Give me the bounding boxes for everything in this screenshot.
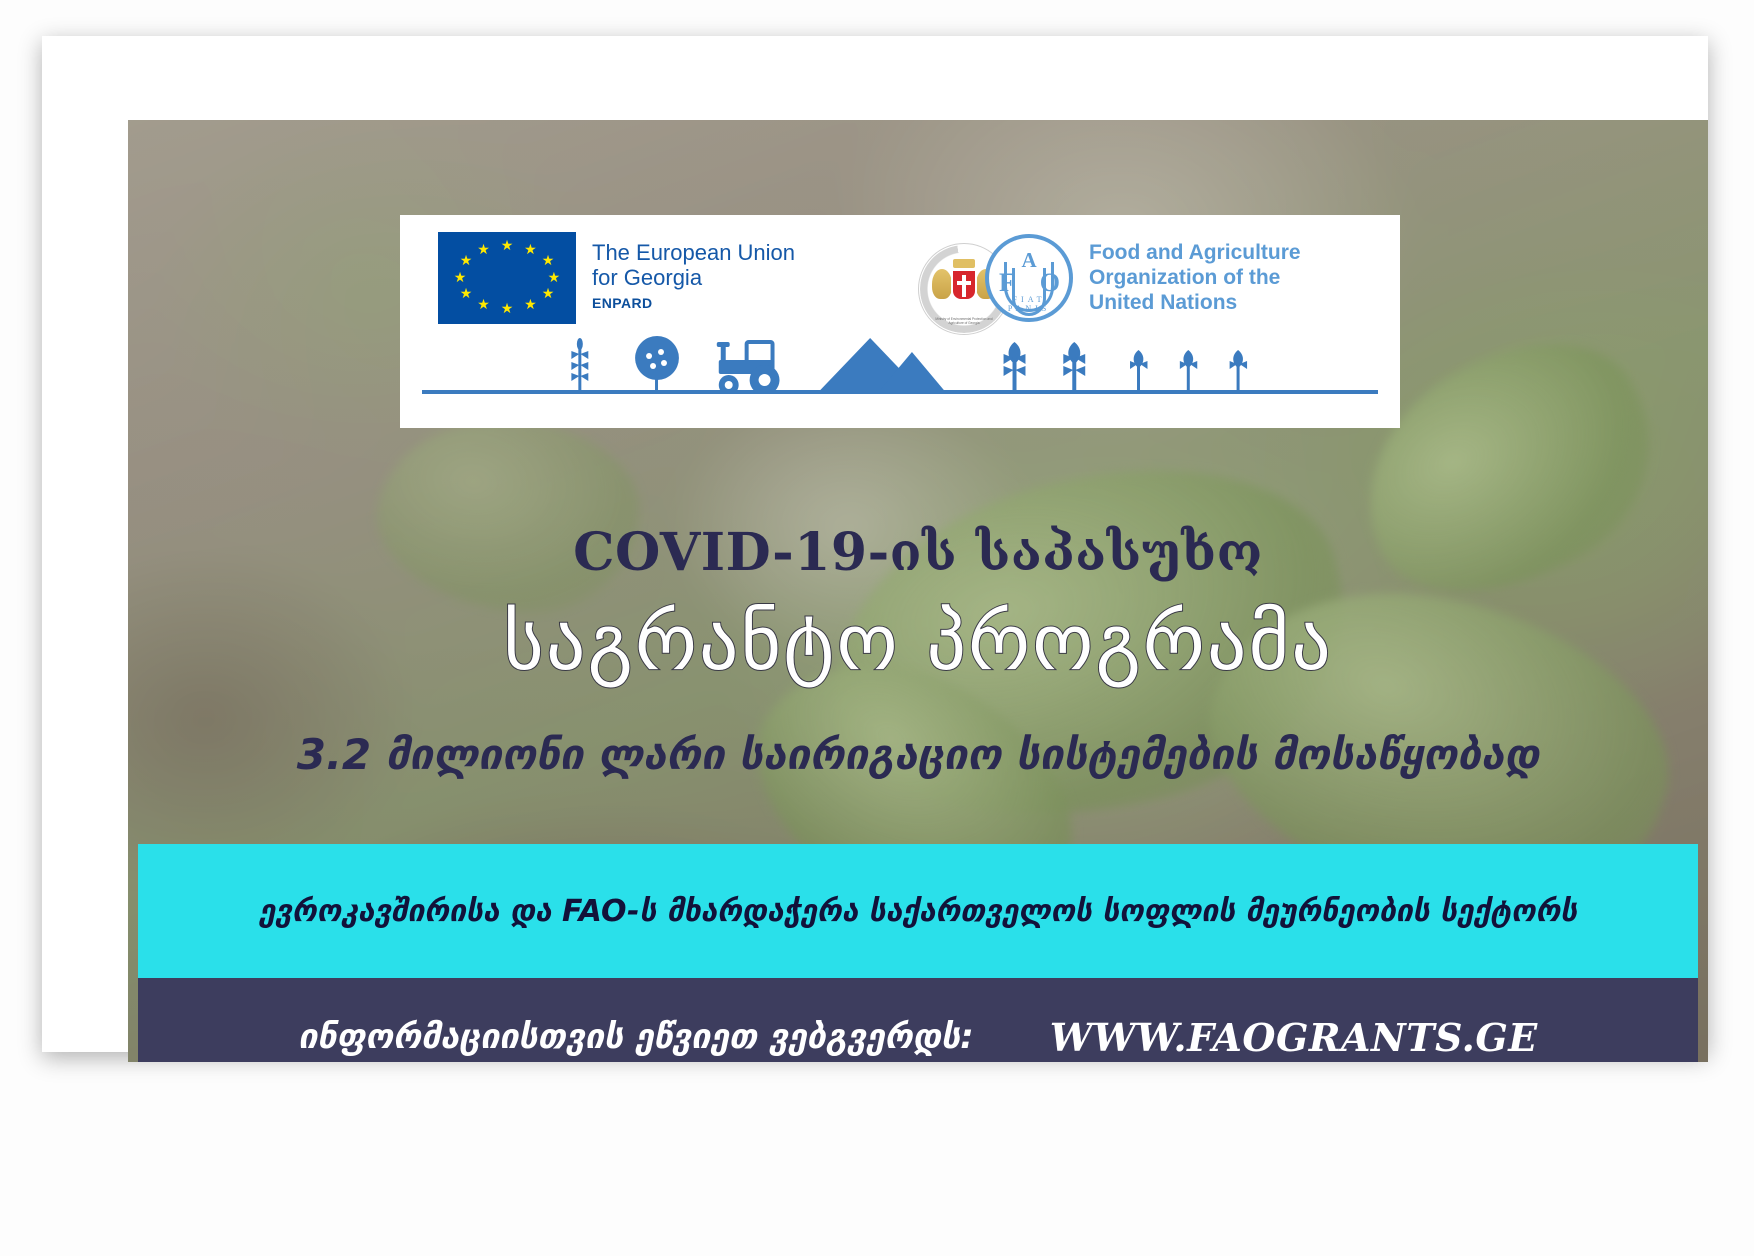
website-url[interactable]: WWW.FAOGRANTS.GE (1020, 1015, 1568, 1060)
fao-emblem-icon: A F O FIAT PANIS (985, 234, 1073, 322)
poster-white-frame: ★ ★ ★ ★ ★ ★ ★ ★ ★ ★ ★ ★ (42, 36, 1708, 1052)
fao-line-3: United Nations (1089, 290, 1301, 315)
fao-motto: FIAT PANIS (989, 295, 1069, 313)
emblem-cross-horizontal (957, 281, 971, 285)
emblem-lion-left-icon (932, 269, 952, 299)
poster-subtitle: 3.2 მილიონი ლარი საირიგაციო სისტემების მ… (128, 730, 1708, 779)
pictogram-baseline (422, 390, 1378, 394)
emblem-cross-vertical (962, 275, 966, 297)
eu-line-2: for Georgia (592, 265, 795, 290)
dark-banner-text: ინფორმაციისთვის ეწვიეთ ვებგვერდს: (268, 1017, 1004, 1057)
emblem-caption: Ministry of Environmental Protection and… (932, 317, 996, 325)
eu-logo-text: The European Union for Georgia ENPARD (592, 232, 795, 311)
poster-page: ★ ★ ★ ★ ★ ★ ★ ★ ★ ★ ★ ★ (0, 0, 1754, 1256)
fao-letter-a: A (1021, 248, 1036, 273)
fao-line-1: Food and Agriculture (1089, 240, 1301, 265)
poster-headline: საგრანტო პროგრამა (128, 598, 1708, 688)
logo-row: ★ ★ ★ ★ ★ ★ ★ ★ ★ ★ ★ ★ (400, 215, 1400, 340)
eu-logo: ★ ★ ★ ★ ★ ★ ★ ★ ★ ★ ★ ★ (438, 232, 795, 324)
fao-letter-o: O (1040, 268, 1060, 298)
agriculture-pictogram-band (422, 338, 1378, 410)
eu-programme-label: ENPARD (592, 295, 795, 311)
cyan-message-banner: ევროკავშირისა და FAO-ს მხარდაჭერა საქართ… (138, 844, 1698, 978)
fao-logo: A F O FIAT PANIS Food and Agriculture Or… (985, 234, 1301, 322)
cyan-banner-text: ევროკავშირისა და FAO-ს მხარდაჭერა საქართ… (219, 894, 1617, 929)
emblem-shield-icon (951, 269, 977, 301)
poster-canvas: ★ ★ ★ ★ ★ ★ ★ ★ ★ ★ ★ ★ (128, 120, 1708, 1062)
dark-url-banner: ინფორმაციისთვის ეწვიეთ ვებგვერდს: WWW.FA… (138, 978, 1698, 1062)
fao-logo-text: Food and Agriculture Organization of the… (1089, 240, 1301, 315)
fao-line-2: Organization of the (1089, 265, 1301, 290)
pictogram-illustrations (422, 334, 1378, 392)
eu-flag-icon: ★ ★ ★ ★ ★ ★ ★ ★ ★ ★ ★ ★ (438, 232, 576, 324)
poster-eyebrow-title: COVID-19-ის საპასუხო (128, 522, 1708, 583)
fao-letter-f: F (999, 268, 1015, 298)
emblem-crown-icon (953, 259, 975, 268)
eu-line-1: The European Union (592, 240, 795, 265)
logo-strip: ★ ★ ★ ★ ★ ★ ★ ★ ★ ★ ★ ★ (400, 215, 1400, 428)
